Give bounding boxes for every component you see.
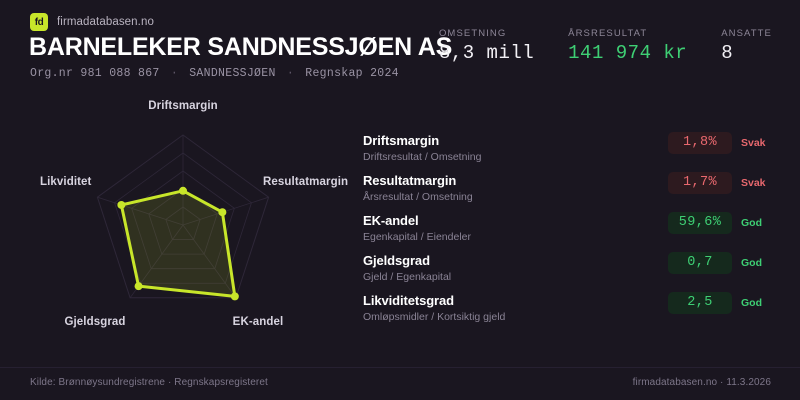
metric-value-chip: 0,7 <box>668 252 732 274</box>
radar-data-point <box>179 187 187 195</box>
stat-ansatte: ANSATTE 8 <box>721 28 772 63</box>
metric-right: 1,8% Svak <box>668 132 775 154</box>
metric-right: 2,5 God <box>668 292 775 314</box>
stat-ansatte-label: ANSATTE <box>721 28 772 39</box>
company-key-figures-card: fd firmadatabasen.no BARNELEKER SANDNESS… <box>0 0 800 400</box>
metric-row-likviditetsgrad: Likviditetsgrad Omløpsmidler / Kortsikti… <box>363 292 775 332</box>
radar-data-point <box>218 208 226 216</box>
metric-row-gjeldsgrad: Gjeldsgrad Gjeld / Egenkapital 0,7 God <box>363 252 775 292</box>
metric-row-driftsmargin: Driftsmargin Driftsresultat / Omsetning … <box>363 132 775 172</box>
company-meta: Org.nr 981 088 867 · SANDNESSJØEN · Regn… <box>30 67 399 80</box>
radar-data-point <box>231 292 239 300</box>
radar-axis-label-likviditet: Likviditet <box>40 176 91 188</box>
header: fd firmadatabasen.no BARNELEKER SANDNESS… <box>0 0 800 88</box>
metric-value-chip: 2,5 <box>668 292 732 314</box>
metric-value-chip: 1,8% <box>668 132 732 154</box>
metric-right: 1,7% Svak <box>668 172 775 194</box>
metric-row-resultatmargin: Resultatmargin Årsresultat / Omsetning 1… <box>363 172 775 212</box>
metric-row-ek-andel: EK-andel Egenkapital / Eiendeler 59,6% G… <box>363 212 775 252</box>
radar-axis-label-ek-andel: EK-andel <box>233 316 284 328</box>
stat-ansatte-value: 8 <box>721 44 733 63</box>
metric-value-chip: 1,7% <box>668 172 732 194</box>
org-number: Org.nr 981 088 867 <box>30 67 160 80</box>
page-title: BARNELEKER SANDNESSJØEN AS <box>29 33 452 62</box>
radar-axis-label-resultatmargin: Resultatmargin <box>263 176 348 188</box>
company-city: SANDNESSJØEN <box>189 67 275 80</box>
stat-arsresultat: ÅRSRESULTAT 141 974 kr <box>568 28 687 63</box>
status-badge: God <box>741 297 775 309</box>
status-badge: God <box>741 257 775 269</box>
stat-omsetning-label: OMSETNING <box>439 28 506 39</box>
radar-axis-label-gjeldsgrad: Gjeldsgrad <box>64 316 125 328</box>
meta-separator-1: · <box>167 67 182 80</box>
meta-separator-2: · <box>283 67 298 80</box>
stat-omsetning: OMSETNING 8,3 mill <box>439 28 534 63</box>
stat-omsetning-value: 8,3 mill <box>439 44 534 63</box>
footer-source: Kilde: Brønnøysundregistrene · Regnskaps… <box>30 377 268 388</box>
radar-axis-label-driftsmargin: Driftsmargin <box>148 100 218 112</box>
brand-name: firmadatabasen.no <box>57 16 154 28</box>
metric-right: 59,6% God <box>668 212 775 234</box>
radar-chart-svg <box>0 88 350 348</box>
status-badge: Svak <box>741 137 775 149</box>
stat-arsresultat-value: 141 974 kr <box>568 44 687 63</box>
footer-site-date: firmadatabasen.no · 11.3.2026 <box>633 377 771 388</box>
metrics-list: Driftsmargin Driftsresultat / Omsetning … <box>363 132 775 332</box>
radar-chart: Driftsmargin Resultatmargin EK-andel Gje… <box>0 88 350 348</box>
brand[interactable]: fd firmadatabasen.no <box>30 13 154 31</box>
status-badge: Svak <box>741 177 775 189</box>
accounting-period: Regnskap 2024 <box>305 67 399 80</box>
footer: Kilde: Brønnøysundregistrene · Regnskaps… <box>0 367 800 400</box>
metric-right: 0,7 God <box>668 252 775 274</box>
firmadatabasen-logo-icon: fd <box>30 13 48 31</box>
header-stats: OMSETNING 8,3 mill ÅRSRESULTAT 141 974 k… <box>439 28 772 63</box>
radar-data-point <box>117 201 125 209</box>
stat-arsresultat-label: ÅRSRESULTAT <box>568 28 647 39</box>
status-badge: God <box>741 217 775 229</box>
metric-value-chip: 59,6% <box>668 212 732 234</box>
radar-data-point <box>135 282 143 290</box>
